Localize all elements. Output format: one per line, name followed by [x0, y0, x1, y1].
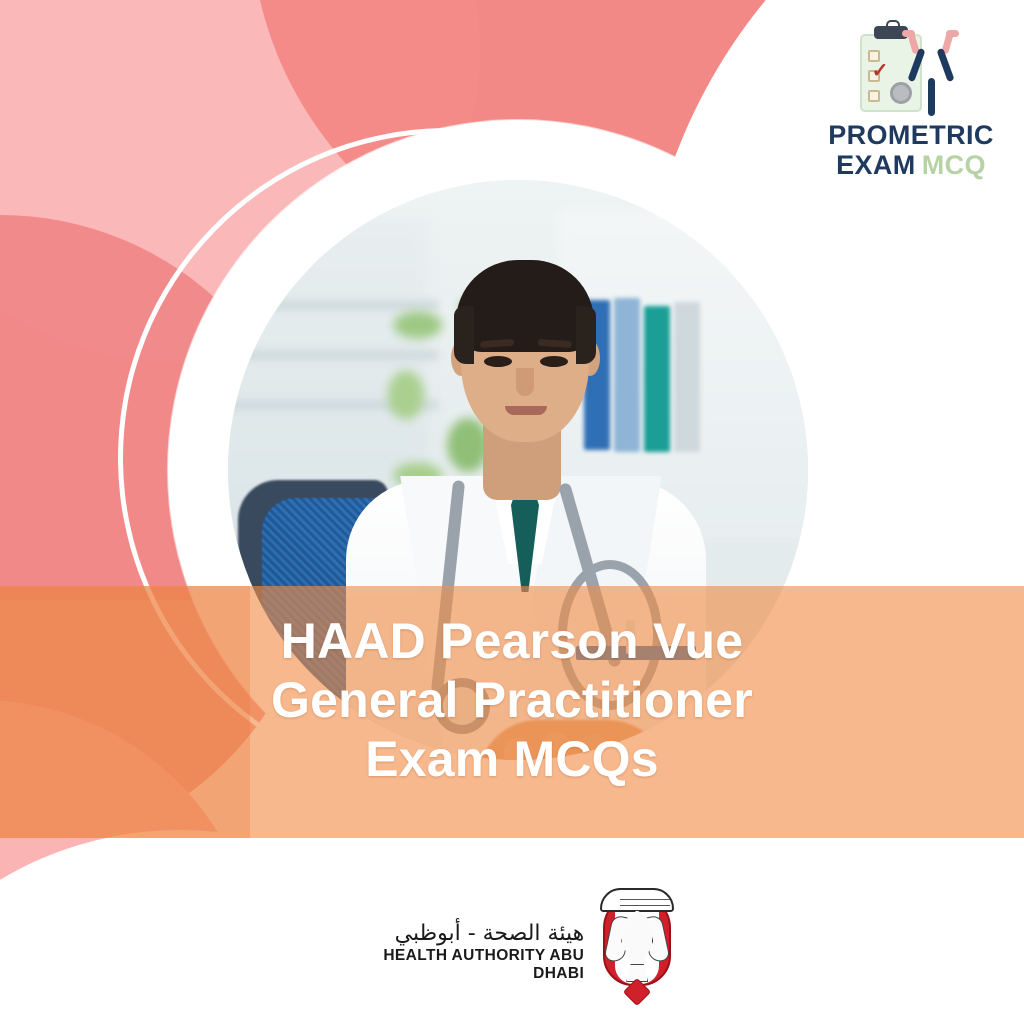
photo-eye-left [484, 356, 512, 367]
brand-name-mcq: MCQ [922, 150, 986, 180]
brand-name-prometric: PROMETRIC [818, 122, 1004, 149]
photo-book-lightblue [614, 298, 640, 452]
check-mark-icon: ✓ [870, 64, 890, 78]
page-title: HAAD Pearson Vue General Practitioner Ex… [0, 612, 1024, 789]
brand-name-line2: EXAMMCQ [818, 151, 1004, 179]
stethoscope-icon [896, 30, 974, 118]
haad-name-english: HEALTH AUTHORITY ABU DHABI [352, 947, 584, 983]
photo-nose [516, 368, 534, 396]
photo-book-grey [674, 302, 700, 452]
haad-logo: هيئة الصحة - أبوظبي HEALTH AUTHORITY ABU… [352, 886, 672, 1004]
stethoscope-stem [928, 78, 935, 116]
page-title-line-2: General Practitioner [0, 671, 1024, 730]
photo-eye-right [540, 356, 568, 367]
brand-logo-mark: ✓ [818, 24, 1004, 120]
emblem-crown [600, 888, 674, 912]
photo-hair-side-left [454, 306, 474, 364]
checkbox-icon-3 [868, 90, 880, 102]
poster-canvas: HAAD Pearson Vue General Practitioner Ex… [0, 0, 1024, 1024]
stethoscope-chestpiece-icon [890, 82, 912, 104]
brand-name-exam: EXAM [836, 150, 916, 180]
photo-hair-side-right [576, 306, 596, 364]
page-title-line-1: HAAD Pearson Vue [0, 612, 1024, 671]
haad-logo-text: هيئة الصحة - أبوظبي HEALTH AUTHORITY ABU… [352, 907, 584, 983]
stethoscope-yoke-left [907, 48, 925, 82]
brand-logo[interactable]: ✓ PROMETRIC EXAMMCQ [818, 24, 1004, 176]
photo-book-teal [644, 306, 670, 452]
abu-dhabi-falcon-emblem-icon [594, 886, 672, 1004]
page-title-line-3: Exam MCQs [0, 730, 1024, 789]
photo-mouth [505, 406, 547, 415]
emblem-crown-band [620, 899, 670, 906]
haad-name-arabic: هيئة الصحة - أبوظبي [352, 921, 584, 946]
brand-wordmark: PROMETRIC EXAMMCQ [818, 122, 1004, 179]
